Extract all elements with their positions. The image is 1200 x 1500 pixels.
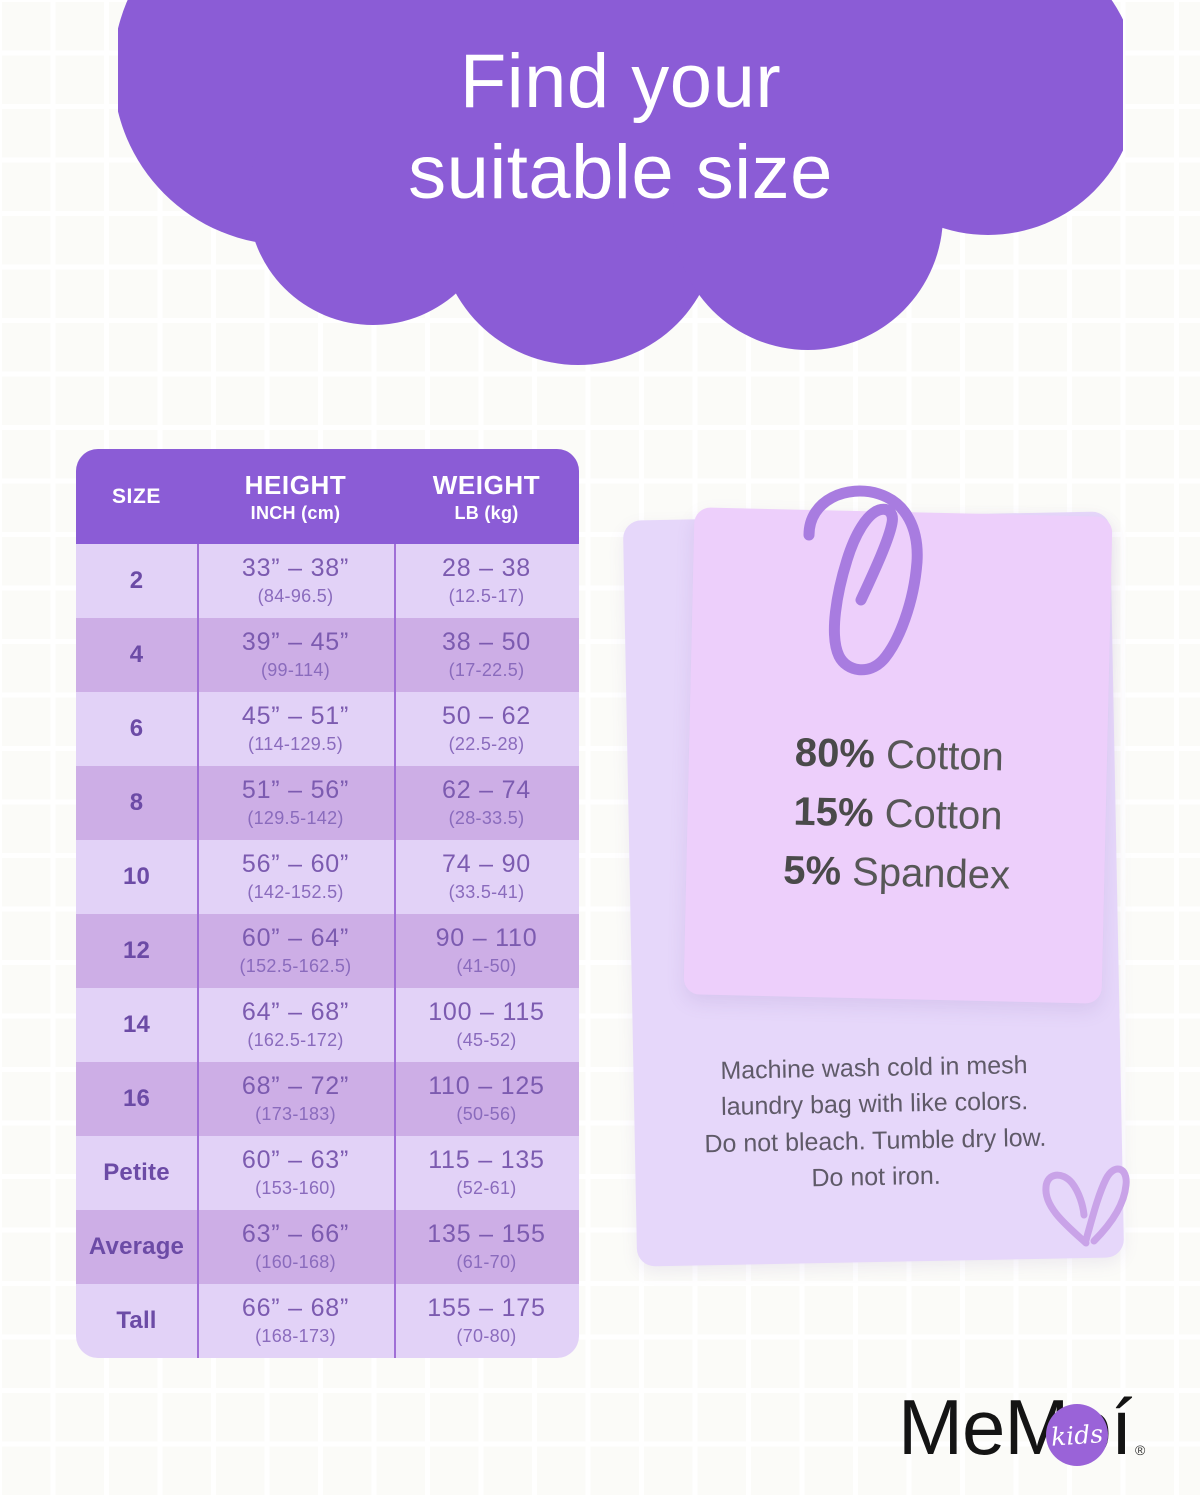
brand-logo: MeMoí kids ®: [898, 1388, 1148, 1478]
composition-line: 15% Cotton: [688, 780, 1107, 849]
height-cm: (153-160): [255, 1178, 336, 1199]
weight-lb: 115 – 135: [428, 1147, 545, 1175]
weight-lb: 38 – 50: [442, 629, 531, 657]
height-cm: (152.5-162.5): [240, 956, 352, 977]
cell-height: 60” – 64”(152.5-162.5): [197, 914, 394, 988]
height-cm: (160-168): [255, 1252, 336, 1273]
cell-weight: 74 – 90(33.5-41): [394, 840, 579, 914]
page-title: Find your suitable size: [118, 36, 1123, 218]
size-value: 2: [130, 567, 144, 595]
table-row: 1668” – 72”(173-183)110 – 125(50-56): [76, 1062, 579, 1136]
table-row: 439” – 45”(99-114)38 – 50(17-22.5): [76, 618, 579, 692]
height-cm: (162.5-172): [247, 1030, 343, 1051]
weight-lb: 28 – 38: [442, 555, 531, 583]
weight-kg: (45-52): [456, 1030, 516, 1051]
weight-kg: (50-56): [456, 1104, 516, 1125]
care-instructions-text: Machine wash cold in mesh laundry bag wi…: [649, 1046, 1102, 1200]
cell-weight: 28 – 38(12.5-17): [394, 544, 579, 618]
size-value: 16: [123, 1085, 150, 1113]
column-header-height: HEIGHT INCH (cm): [197, 449, 394, 544]
weight-lb: 135 – 155: [427, 1221, 545, 1249]
size-value: Petite: [103, 1159, 170, 1187]
height-cm: (173-183): [255, 1104, 336, 1125]
table-row: 851” – 56”(129.5-142)62 – 74(28-33.5): [76, 766, 579, 840]
composition-material: Cotton: [874, 732, 1004, 779]
height-inches: 56” – 60”: [242, 851, 349, 879]
cell-size: 10: [76, 840, 197, 914]
cell-height: 64” – 68”(162.5-172): [197, 988, 394, 1062]
weight-kg: (22.5-28): [449, 734, 525, 755]
cell-size: 8: [76, 766, 197, 840]
composition-percent: 80%: [794, 731, 875, 777]
weight-lb: 155 – 175: [427, 1295, 545, 1323]
table-row: 645” – 51”(114-129.5)50 – 62(22.5-28): [76, 692, 579, 766]
size-value: 8: [130, 789, 144, 817]
table-row: Petite60” – 63”(153-160)115 – 135(52-61): [76, 1136, 579, 1210]
composition-percent: 5%: [783, 849, 842, 894]
weight-kg: (70-80): [456, 1326, 516, 1347]
paperclip-icon: [795, 482, 945, 677]
height-inches: 63” – 66”: [242, 1221, 349, 1249]
kids-badge: kids: [1046, 1404, 1108, 1466]
table-body: 233” – 38”(84-96.5)28 – 38(12.5-17)439” …: [76, 544, 579, 1358]
cell-weight: 50 – 62(22.5-28): [394, 692, 579, 766]
weight-lb: 62 – 74: [442, 777, 531, 805]
weight-kg: (41-50): [456, 956, 516, 977]
height-inches: 45” – 51”: [242, 703, 349, 731]
cell-size: 14: [76, 988, 197, 1062]
table-row: 1260” – 64”(152.5-162.5)90 – 110(41-50): [76, 914, 579, 988]
cell-height: 63” – 66”(160-168): [197, 1210, 394, 1284]
composition-line: 80% Cotton: [690, 721, 1109, 790]
height-cm: (168-173): [255, 1326, 336, 1347]
cell-size: Average: [76, 1210, 197, 1284]
registered-mark: ®: [1135, 1442, 1145, 1458]
height-cm: (114-129.5): [248, 734, 343, 755]
height-inches: 51” – 56”: [242, 777, 349, 805]
height-cm: (99-114): [261, 660, 330, 681]
fabric-composition-list: 80% Cotton15% Cotton5% Spandex: [687, 721, 1109, 908]
heart-doodle-icon: [1036, 1155, 1141, 1260]
column-header-weight: WEIGHT LB (kg): [394, 449, 579, 544]
cell-size: 2: [76, 544, 197, 618]
weight-lb: 90 – 110: [436, 925, 538, 953]
kids-badge-label: kids: [1050, 1419, 1104, 1452]
weight-lb: 100 – 115: [428, 999, 545, 1027]
cell-height: 39” – 45”(99-114): [197, 618, 394, 692]
cell-height: 60” – 63”(153-160): [197, 1136, 394, 1210]
table-row: Average63” – 66”(160-168)135 – 155(61-70…: [76, 1210, 579, 1284]
weight-lb: 110 – 125: [428, 1073, 545, 1101]
height-cm: (129.5-142): [247, 808, 343, 829]
cell-weight: 135 – 155(61-70): [394, 1210, 579, 1284]
weight-kg: (61-70): [456, 1252, 516, 1273]
cell-size: Petite: [76, 1136, 197, 1210]
size-value: 4: [130, 641, 144, 669]
composition-line: 5% Spandex: [687, 840, 1106, 909]
cell-height: 33” – 38”(84-96.5): [197, 544, 394, 618]
table-row: Tall66” – 68”(168-173)155 – 175(70-80): [76, 1284, 579, 1358]
cell-weight: 155 – 175(70-80): [394, 1284, 579, 1358]
cell-size: 4: [76, 618, 197, 692]
height-cm: (142-152.5): [247, 882, 343, 903]
weight-kg: (28-33.5): [449, 808, 525, 829]
table-row: 1056” – 60”(142-152.5)74 – 90(33.5-41): [76, 840, 579, 914]
cell-height: 45” – 51”(114-129.5): [197, 692, 394, 766]
height-cm: (84-96.5): [258, 586, 334, 607]
cell-height: 56” – 60”(142-152.5): [197, 840, 394, 914]
composition-percent: 15%: [793, 790, 874, 836]
size-value: 12: [123, 937, 150, 965]
cell-weight: 115 – 135(52-61): [394, 1136, 579, 1210]
column-header-size: SIZE: [76, 449, 197, 544]
cell-size: Tall: [76, 1284, 197, 1358]
height-inches: 64” – 68”: [242, 999, 349, 1027]
cell-size: 12: [76, 914, 197, 988]
height-inches: 66” – 68”: [242, 1295, 349, 1323]
weight-lb: 50 – 62: [442, 703, 531, 731]
table-row: 233” – 38”(84-96.5)28 – 38(12.5-17): [76, 544, 579, 618]
height-inches: 33” – 38”: [242, 555, 349, 583]
size-value: 14: [123, 1011, 150, 1039]
weight-kg: (33.5-41): [449, 882, 525, 903]
height-inches: 68” – 72”: [242, 1073, 349, 1101]
table-row: 1464” – 68”(162.5-172)100 – 115(45-52): [76, 988, 579, 1062]
cell-weight: 110 – 125(50-56): [394, 1062, 579, 1136]
cell-height: 68” – 72”(173-183): [197, 1062, 394, 1136]
cell-weight: 38 – 50(17-22.5): [394, 618, 579, 692]
size-value: 6: [130, 715, 144, 743]
composition-material: Cotton: [873, 792, 1003, 839]
weight-kg: (17-22.5): [449, 660, 525, 681]
cell-weight: 90 – 110(41-50): [394, 914, 579, 988]
table-header-row: SIZE HEIGHT INCH (cm) WEIGHT LB (kg): [76, 449, 579, 544]
weight-kg: (52-61): [456, 1178, 516, 1199]
cell-size: 6: [76, 692, 197, 766]
height-inches: 60” – 64”: [242, 925, 349, 953]
height-inches: 39” – 45”: [242, 629, 349, 657]
size-chart-table: SIZE HEIGHT INCH (cm) WEIGHT LB (kg) 233…: [76, 449, 579, 1358]
composition-material: Spandex: [841, 850, 1011, 898]
weight-kg: (12.5-17): [449, 586, 525, 607]
cell-height: 66” – 68”(168-173): [197, 1284, 394, 1358]
cell-size: 16: [76, 1062, 197, 1136]
height-inches: 60” – 63”: [242, 1147, 349, 1175]
weight-lb: 74 – 90: [442, 851, 531, 879]
size-value: Tall: [116, 1307, 156, 1335]
cell-weight: 62 – 74(28-33.5): [394, 766, 579, 840]
size-value: Average: [89, 1233, 184, 1261]
size-value: 10: [123, 863, 150, 891]
cell-height: 51” – 56”(129.5-142): [197, 766, 394, 840]
cell-weight: 100 – 115(45-52): [394, 988, 579, 1062]
